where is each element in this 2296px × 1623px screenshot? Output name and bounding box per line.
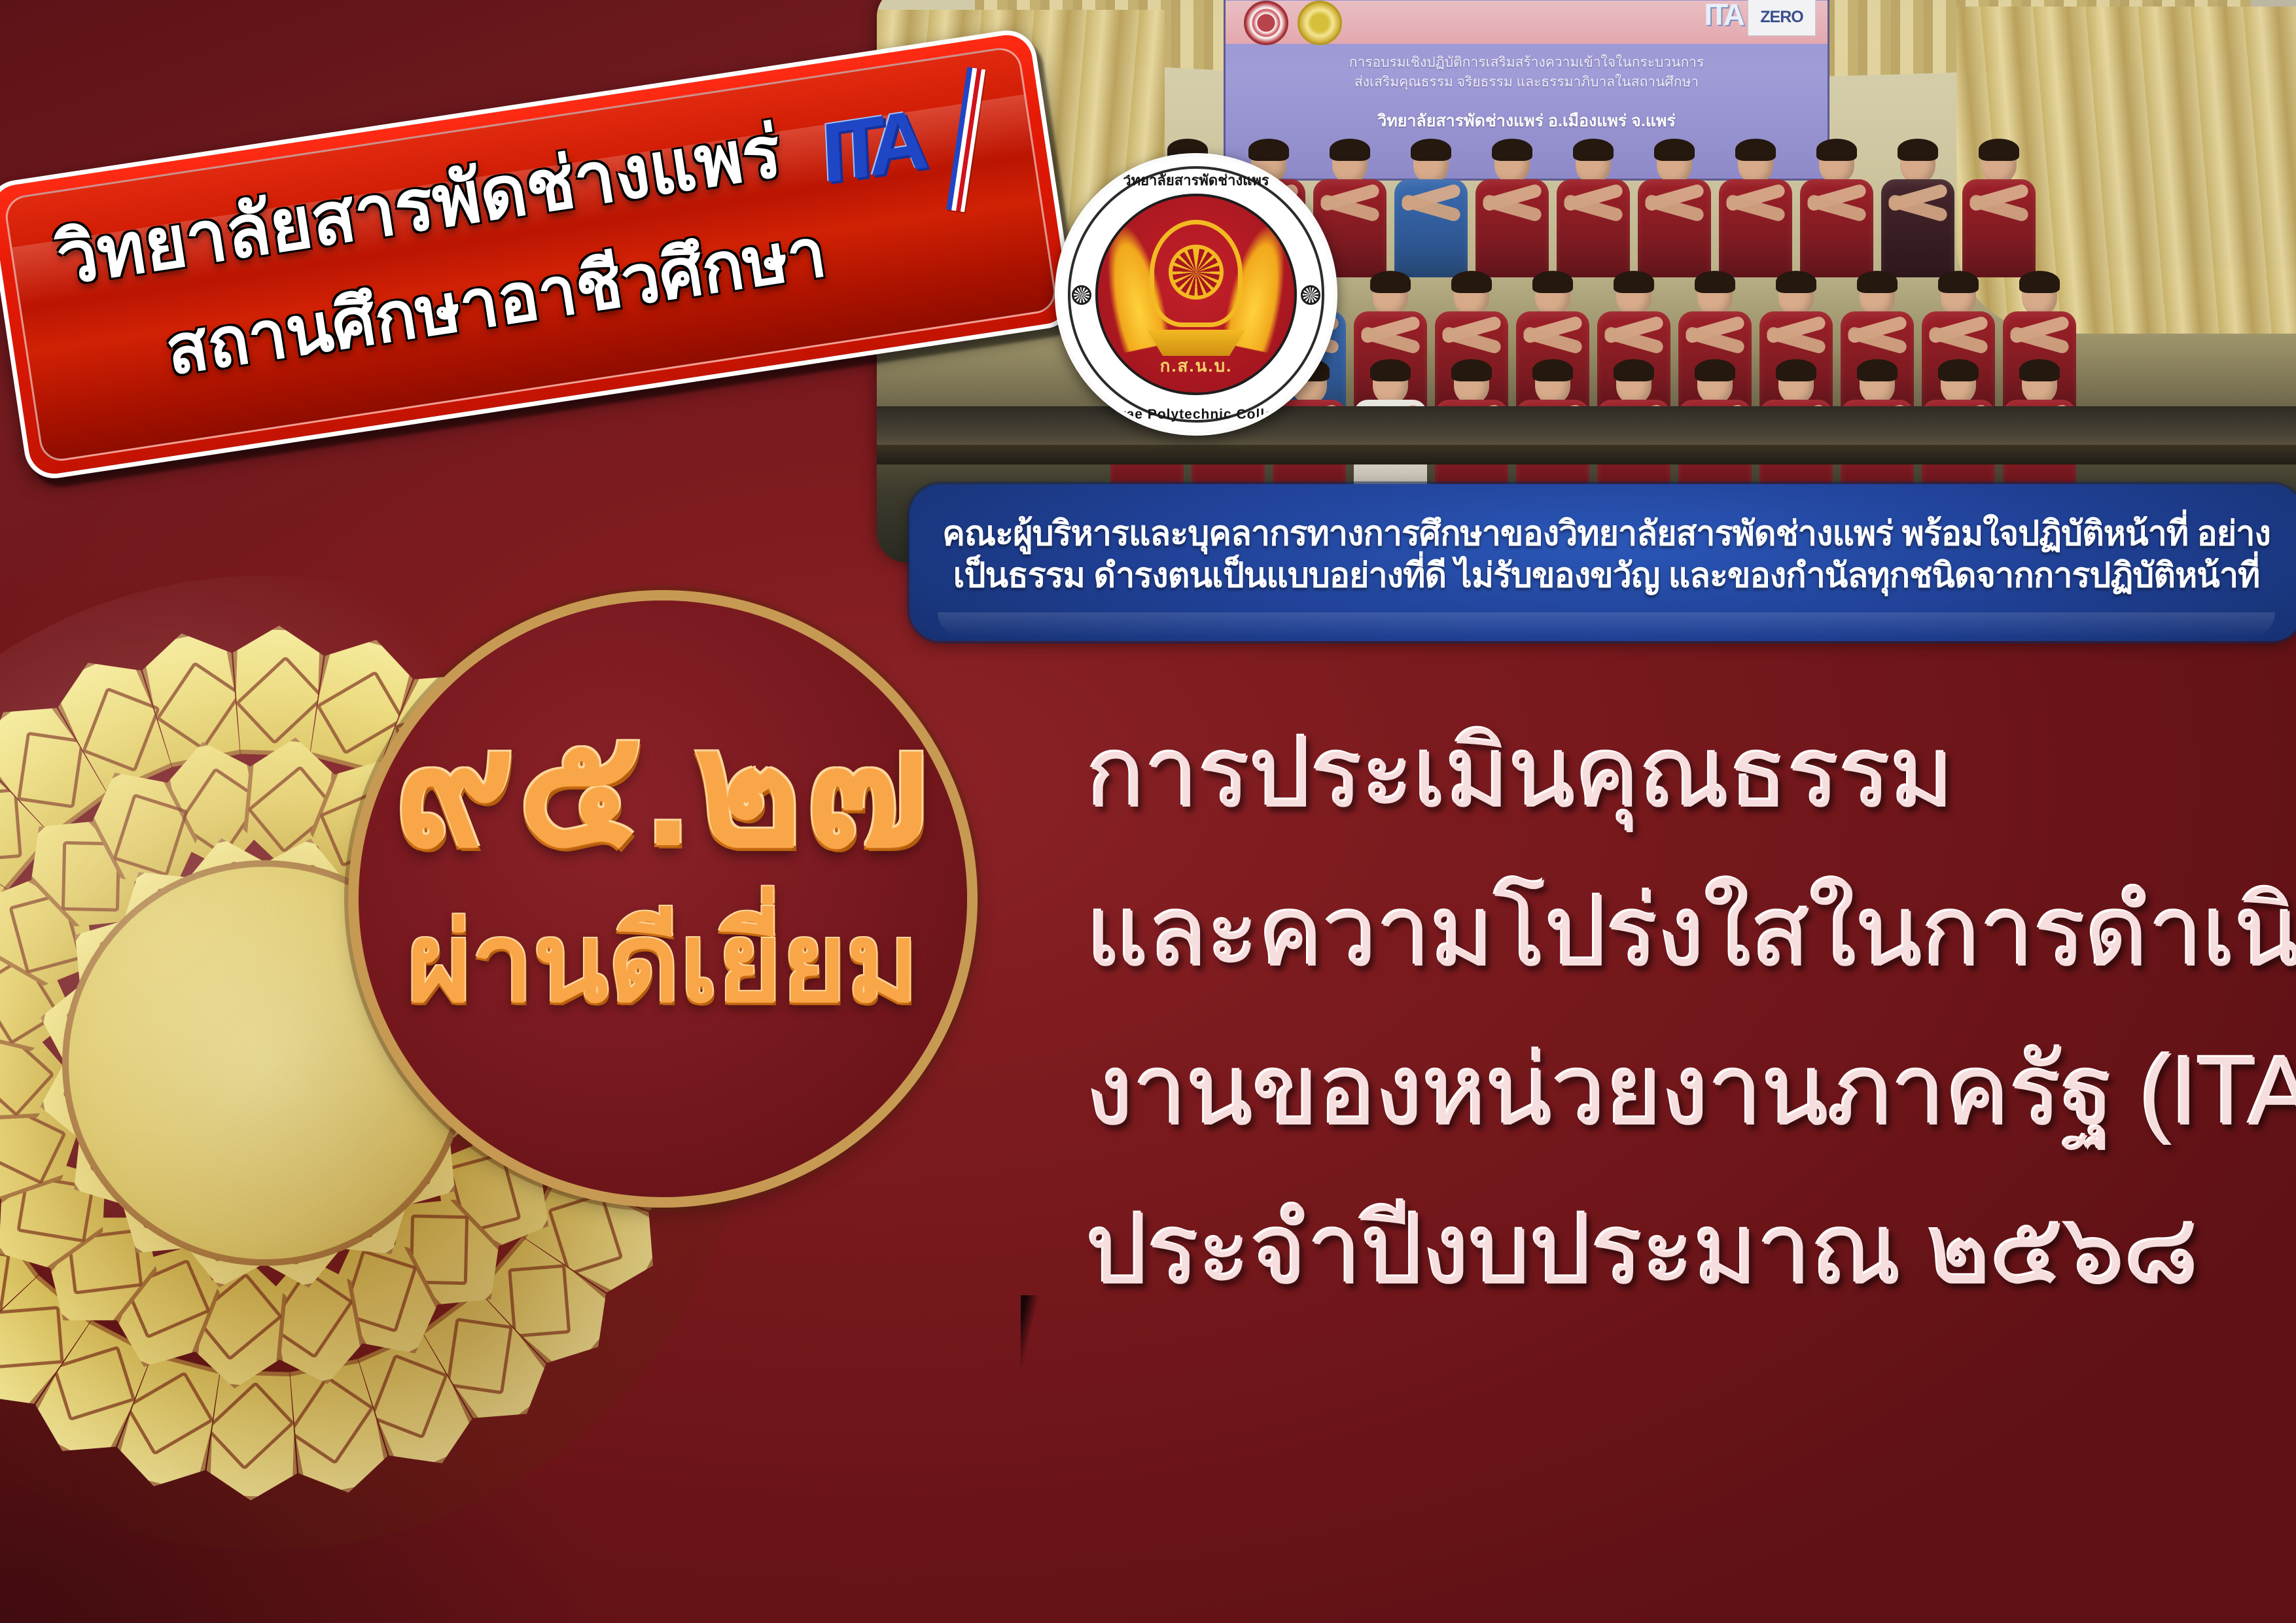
seal-gear-right-icon	[1301, 285, 1320, 305]
page-title: การประเมินคุณธรรม และความโปร่งใสในการดำเ…	[1086, 693, 2257, 1329]
person	[1474, 143, 1551, 277]
headline-line-4: ประจำปีงบประมาณ ๒๕๖๘	[1086, 1170, 2257, 1329]
person	[1392, 143, 1470, 277]
score-badge: ๙๕.๒๗ ผ่านดีเยี่ยม	[359, 601, 967, 1197]
photo-stage-front	[877, 445, 2296, 464]
pledge-line-2: เป็นธรรม ดำรงตนเป็นแบบอย่างที่ดี ไม่รับข…	[953, 557, 2260, 595]
poster-canvas: ITA ZERO การอบรมเชิงปฏิบัติการเสริมสร้าง…	[0, 0, 2296, 1623]
screen-seal-icon	[1244, 1, 1288, 45]
person	[1879, 143, 1956, 277]
seal-english-name: Phrae Polytechnic College	[1059, 407, 1333, 423]
college-seal: วิทยาลัยสารพัดช่างแพร่ Phrae Polytechnic…	[1055, 153, 1337, 436]
headline-line-1: การประเมินคุณธรรม	[1086, 693, 2257, 852]
pledge-line-1: คณะผู้บริหารและบุคลากรทางการศึกษาของวิทย…	[942, 515, 2270, 553]
person	[1636, 143, 1713, 277]
person	[1717, 143, 1794, 277]
seal-pedestal-icon	[1147, 330, 1245, 356]
screen-garuda-icon	[1298, 1, 1342, 45]
seal-abbreviation: ก.ส.น.บ.	[1098, 353, 1294, 379]
headline-line-2: และความโปร่งใสในการดำเนิน	[1086, 852, 2257, 1011]
seal-thai-name: วิทยาลัยสารพัดช่างแพร่	[1059, 169, 1333, 192]
score-value: ๙๕.๒๗	[359, 707, 967, 871]
pledge-banner: คณะผู้บริหารและบุคลากรทางการศึกษาของวิทย…	[910, 484, 2296, 641]
person	[1798, 143, 1875, 277]
seal-gear-left-icon	[1072, 285, 1091, 305]
screen-zero-logo: ZERO	[1748, 0, 1816, 36]
score-rating-label: ผ่านดีเยี่ยม	[359, 908, 967, 1018]
pledge-text: คณะผู้บริหารและบุคลากรทางการศึกษาของวิทย…	[910, 513, 2296, 597]
screen-ita-logo: ITA	[1704, 0, 1742, 32]
seal-dharma-wheel-icon	[1169, 245, 1224, 300]
headline-line-3: งานของหน่วยงานภาครัฐ (ITA)	[1086, 1011, 2257, 1170]
person	[1960, 143, 2038, 277]
ita-logo-icon: ITA	[820, 92, 921, 203]
person	[1555, 143, 1632, 277]
seal-emblem: ก.ส.น.บ.	[1095, 194, 1297, 395]
